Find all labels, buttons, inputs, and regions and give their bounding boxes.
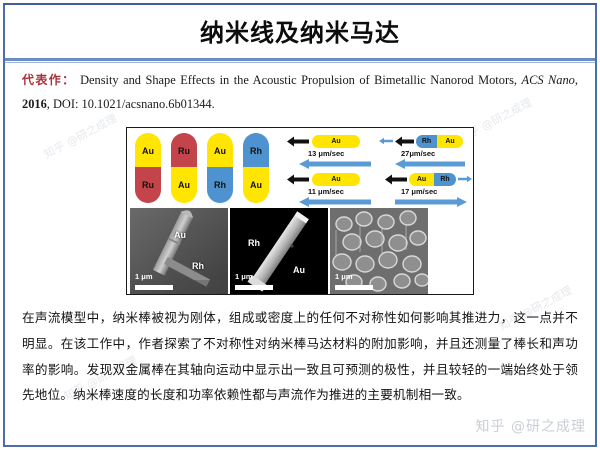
scale-bar-label: 1 μm xyxy=(335,272,353,281)
rod-segment-top: Au xyxy=(207,133,233,169)
rod-segment-top: Rh xyxy=(243,133,269,169)
mini-rod: Au Rh xyxy=(409,173,456,186)
citation-block: 代表作： Density and Shape Effects in the Ac… xyxy=(22,68,578,117)
rod-segment-bottom: Au xyxy=(171,167,197,203)
rod-pair: Au Rh xyxy=(207,133,233,205)
motion-diagram-rhau-27: Rh Au 27μm/sec xyxy=(379,134,474,168)
rod-pair: Ru Au xyxy=(171,133,197,205)
rod-pair: Au Ru xyxy=(135,133,161,205)
mini-rod: Rh Au xyxy=(416,135,463,148)
scale-bar-label: 1 μm xyxy=(135,272,153,281)
citation-journal-comma: , xyxy=(575,73,578,87)
black-arrow-left-icon xyxy=(287,174,309,185)
speed-label: 17 μm/sec xyxy=(401,187,437,196)
sem-image-au-rh-rods: Au Rh 1 μm xyxy=(130,208,228,294)
rod-segment-top: Au xyxy=(135,133,161,169)
speed-label: 11 μm/sec xyxy=(308,187,344,196)
blue-arrow-left-icon xyxy=(299,197,371,207)
mini-rod-segment: Au xyxy=(312,135,360,148)
slide-page: 知乎 @研之成理 知乎 @研之成理 知乎 @研之成理 知乎 @研之成理 纳米线及… xyxy=(0,0,600,450)
motion-diagram-au-11: Au 11 μm/sec xyxy=(287,172,377,206)
slide-border-right xyxy=(595,3,597,447)
scale-bar xyxy=(335,285,373,290)
small-blue-arrow-left-icon xyxy=(379,137,393,145)
rod-segment-top: Ru xyxy=(171,133,197,169)
mini-rod-segment: Rh xyxy=(416,135,437,148)
motion-diagram-au-13: Au 13 μm/sec xyxy=(287,134,377,168)
slide-border-left xyxy=(3,3,5,447)
sem-image-3-graphic xyxy=(330,208,428,294)
mini-rod-segment: Rh xyxy=(434,173,456,186)
motion-diagram-aurh-17: Au Rh 17 μm/sec xyxy=(379,172,474,206)
watermark-zhihu: 知乎 @研之成理 xyxy=(476,416,586,436)
citation-doi-prefix: , DOI: xyxy=(47,97,82,111)
sem-label-au: Au xyxy=(293,265,305,275)
title-band: 纳米线及纳米马达 xyxy=(5,5,595,61)
rod-pair: Rh Au xyxy=(243,133,269,205)
blue-arrow-left-icon xyxy=(395,159,465,169)
citation-doi: 10.1021/acsnano.6b01344. xyxy=(82,97,215,111)
mini-rod-segment: Au xyxy=(437,135,463,148)
blue-arrow-right-icon xyxy=(395,197,467,207)
citation-label: 代表作 xyxy=(22,73,62,87)
rod-segment-bottom: Ru xyxy=(135,167,161,203)
citation-year: 2016 xyxy=(22,97,47,111)
figure-panel: Au Ru Ru Au Au Rh Rh Au Au xyxy=(126,127,474,295)
mini-rod: Au xyxy=(312,173,360,186)
sem-image-rod-array: 1 μm xyxy=(330,208,428,294)
scale-bar-label: 1 μm xyxy=(235,272,253,281)
figure-inner: Au Ru Ru Au Au Rh Rh Au Au xyxy=(127,128,473,294)
sem-image-2-graphic xyxy=(230,208,328,294)
sem-label-au: Au xyxy=(174,230,186,240)
rod-segment-bottom: Rh xyxy=(207,167,233,203)
sem-image-1-graphic xyxy=(130,208,228,294)
blue-arrow-left-icon xyxy=(299,159,371,169)
rod-segment-bottom: Au xyxy=(243,167,269,203)
sem-image-rh-au-rod: Rh Au 1 μm xyxy=(230,208,328,294)
mini-rod-segment: Au xyxy=(409,173,434,186)
citation-journal: ACS Nano xyxy=(522,73,575,87)
citation-paper-title: Density and Shape Effects in the Acousti… xyxy=(80,73,517,87)
sem-label-rh: Rh xyxy=(248,238,260,248)
title-underline-secondary xyxy=(5,62,595,63)
scale-bar xyxy=(135,285,173,290)
scale-bar xyxy=(235,285,273,290)
title-underline xyxy=(5,58,595,61)
citation-label-separator: ： xyxy=(62,73,75,87)
black-arrow-left-icon xyxy=(385,174,407,185)
sem-label-rh: Rh xyxy=(192,261,204,271)
slide-border-bottom xyxy=(3,445,597,447)
body-paragraph: 在声流模型中，纳米棒被视为刚体，组成或密度上的任何不对称性如何影响其推进力，这一… xyxy=(22,305,578,408)
black-arrow-left-icon xyxy=(395,136,414,147)
watermark-diagonal: 知乎 @研之成理 xyxy=(41,110,120,162)
mini-rod-segment: Au xyxy=(312,173,360,186)
small-blue-arrow-right-icon xyxy=(458,175,472,183)
page-title: 纳米线及纳米马达 xyxy=(200,21,400,45)
speed-label: 27μm/sec xyxy=(401,149,435,158)
black-arrow-left-icon xyxy=(287,136,309,147)
mini-rod: Au xyxy=(312,135,360,148)
speed-label: 13 μm/sec xyxy=(308,149,344,158)
